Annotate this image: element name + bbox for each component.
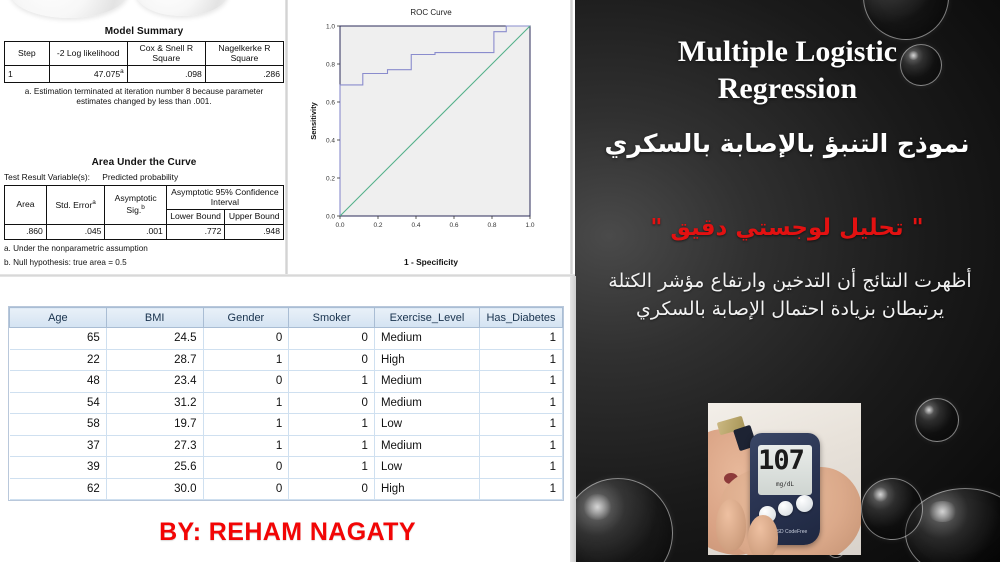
table-row[interactable]: 4823.401Medium1 bbox=[10, 371, 563, 393]
cell-age[interactable]: 48 bbox=[10, 371, 107, 393]
column-header-has_diabetes[interactable]: Has_Diabetes bbox=[480, 308, 563, 328]
col-upper-bound: Upper Bound bbox=[225, 210, 284, 225]
panel-divider bbox=[570, 0, 573, 276]
decorative-bubble-icon bbox=[575, 478, 673, 562]
y-axis-tick: 0.2 bbox=[326, 175, 335, 182]
slide-title-arabic: نموذج التنبؤ بالإصابة بالسكري bbox=[589, 128, 985, 160]
column-header-gender[interactable]: Gender bbox=[203, 308, 289, 328]
y-axis-tick: 0.8 bbox=[326, 61, 335, 68]
decorative-bubble-icon bbox=[915, 398, 959, 442]
model-summary-table: Step -2 Log likelihood Cox & Snell R Squ… bbox=[4, 41, 284, 83]
auc-test-variable: Test Result Variable(s): Predicted proba… bbox=[4, 172, 284, 182]
y-axis-tick: 0.4 bbox=[326, 137, 335, 144]
cell-has_diabetes[interactable]: 1 bbox=[480, 371, 563, 393]
left-content-panel: Model Summary Step -2 Log likelihood Cox… bbox=[0, 0, 575, 562]
cell-lower-bound: .772 bbox=[166, 224, 225, 239]
roc-curve-chart: ROC Curve 0.00.20.40.60.81.0 0.00.20.40.… bbox=[300, 8, 562, 270]
column-header-age[interactable]: Age bbox=[10, 308, 107, 328]
data-grid[interactable]: AgeBMIGenderSmokerExercise_LevelHas_Diab… bbox=[8, 306, 564, 501]
col-cox-snell-r-square: Cox & Snell R Square bbox=[127, 42, 205, 66]
auc-test-variable-label: Test Result Variable(s): bbox=[4, 172, 90, 182]
area-under-curve-output: Area Under the Curve Test Result Variabl… bbox=[4, 157, 284, 268]
cell-smoker[interactable]: 0 bbox=[289, 328, 375, 350]
decorative-bubble-icon bbox=[861, 478, 923, 540]
panel-divider bbox=[0, 274, 575, 277]
cell-gender[interactable]: 1 bbox=[203, 414, 289, 436]
cell-sig: .001 bbox=[105, 224, 166, 239]
cell-exercise_level[interactable]: Low bbox=[374, 414, 479, 436]
col-std-error: Std. Errora bbox=[46, 186, 105, 225]
auc-footnote-a: a. Under the nonparametric assumption bbox=[4, 244, 284, 254]
cell-has_diabetes[interactable]: 1 bbox=[480, 435, 563, 457]
chart-title: ROC Curve bbox=[300, 8, 562, 17]
cell-gender[interactable]: 0 bbox=[203, 328, 289, 350]
title-line-2: Regression bbox=[595, 71, 980, 108]
table-row[interactable]: 3727.311Medium1 bbox=[10, 435, 563, 457]
cell-bmi[interactable]: 30.0 bbox=[106, 478, 203, 500]
cell-age[interactable]: 22 bbox=[10, 349, 107, 371]
col-confidence-interval-group: Asymptotic 95% Confidence Interval bbox=[166, 186, 283, 210]
title-line-1: Multiple Logistic bbox=[595, 34, 980, 71]
cell-smoker[interactable]: 1 bbox=[289, 435, 375, 457]
cell-age[interactable]: 39 bbox=[10, 457, 107, 479]
x-axis-tick: 0.6 bbox=[449, 222, 458, 229]
x-axis-tick: 1.0 bbox=[525, 222, 534, 229]
cell-step: 1 bbox=[5, 66, 50, 82]
cell-age[interactable]: 62 bbox=[10, 478, 107, 500]
cell-bmi[interactable]: 19.7 bbox=[106, 414, 203, 436]
presentation-slide: Model Summary Step -2 Log likelihood Cox… bbox=[0, 0, 1000, 562]
glucose-meter-photo: 107 mg/dL SD CodeFree bbox=[708, 403, 861, 555]
cell-std-error: .045 bbox=[46, 224, 105, 239]
table-row[interactable]: 3925.601Low1 bbox=[10, 457, 563, 479]
panel-divider bbox=[570, 276, 576, 562]
y-axis-tick: 0.6 bbox=[326, 99, 335, 106]
column-header-exercise_level[interactable]: Exercise_Level bbox=[374, 308, 479, 328]
footnote-marker: a bbox=[92, 199, 96, 206]
cell-bmi[interactable]: 28.7 bbox=[106, 349, 203, 371]
cell-minus2loglikelihood: 47.075a bbox=[49, 66, 127, 82]
x-axis-tick: 0.4 bbox=[411, 222, 420, 229]
cell-gender[interactable]: 0 bbox=[203, 457, 289, 479]
cell-has_diabetes[interactable]: 1 bbox=[480, 349, 563, 371]
y-axis-tick: 0.0 bbox=[326, 213, 335, 220]
cell-gender[interactable]: 0 bbox=[203, 478, 289, 500]
cell-exercise_level[interactable]: Medium bbox=[374, 371, 479, 393]
cell-smoker[interactable]: 1 bbox=[289, 457, 375, 479]
table-row: 1 47.075a .098 .286 bbox=[5, 66, 284, 82]
col-step: Step bbox=[5, 42, 50, 66]
model-summary-output: Model Summary Step -2 Log likelihood Cox… bbox=[4, 26, 284, 107]
table-row[interactable]: 2228.710High1 bbox=[10, 349, 563, 371]
cell-smoker[interactable]: 0 bbox=[289, 349, 375, 371]
y-axis-tick: 1.0 bbox=[326, 23, 335, 30]
decorative-bubble-icon bbox=[136, 0, 228, 16]
auc-caption: Area Under the Curve bbox=[4, 157, 284, 168]
table-row[interactable]: 5431.210Medium1 bbox=[10, 392, 563, 414]
data-grid-table: AgeBMIGenderSmokerExercise_LevelHas_Diab… bbox=[9, 307, 563, 500]
slide-body-arabic: أظهرت النتائج أن التدخين وارتفاع مؤشر ال… bbox=[597, 268, 983, 323]
table-row[interactable]: 6524.500Medium1 bbox=[10, 328, 563, 350]
glucose-reading-value: 107 bbox=[758, 447, 804, 474]
glucometer-power-button bbox=[778, 501, 793, 516]
chart-x-axis-label: 1 - Specificity bbox=[300, 257, 562, 267]
column-header-smoker[interactable]: Smoker bbox=[289, 308, 375, 328]
cell-has_diabetes[interactable]: 1 bbox=[480, 328, 563, 350]
slide-subtitle-arabic: " تحليل لوجستي دقيق " bbox=[589, 215, 985, 243]
cell-value: 47.075 bbox=[94, 69, 120, 79]
cell-exercise_level[interactable]: High bbox=[374, 478, 479, 500]
cell-gender[interactable]: 1 bbox=[203, 392, 289, 414]
cell-smoker[interactable]: 0 bbox=[289, 392, 375, 414]
finger-shape bbox=[716, 499, 746, 551]
col-area: Area bbox=[5, 186, 47, 225]
chart-y-axis-label: Sensitivity bbox=[309, 101, 318, 139]
x-axis-tick: 0.8 bbox=[487, 222, 496, 229]
cell-smoker[interactable]: 0 bbox=[289, 478, 375, 500]
slide-title-english: Multiple Logistic Regression bbox=[595, 34, 980, 107]
cell-gender[interactable]: 1 bbox=[203, 349, 289, 371]
cell-gender[interactable]: 0 bbox=[203, 371, 289, 393]
cell-exercise_level[interactable]: Low bbox=[374, 457, 479, 479]
cell-area: .860 bbox=[5, 224, 47, 239]
cell-exercise_level[interactable]: Medium bbox=[374, 435, 479, 457]
model-summary-footnote: a. Estimation terminated at iteration nu… bbox=[4, 87, 284, 108]
footnote-marker: a bbox=[120, 68, 124, 75]
cell-exercise_level[interactable]: Medium bbox=[374, 328, 479, 350]
table-row: .860 .045 .001 .772 .948 bbox=[5, 224, 284, 239]
table-row[interactable]: 6230.000High1 bbox=[10, 478, 563, 500]
cell-bmi[interactable]: 31.2 bbox=[106, 392, 203, 414]
glucose-reading-unit: mg/dL bbox=[762, 481, 808, 488]
data-grid-header-row: AgeBMIGenderSmokerExercise_LevelHas_Diab… bbox=[10, 308, 563, 328]
cell-upper-bound: .948 bbox=[225, 224, 284, 239]
cell-exercise_level[interactable]: Medium bbox=[374, 392, 479, 414]
decorative-bubble-icon bbox=[10, 0, 128, 18]
col-lower-bound: Lower Bound bbox=[166, 210, 225, 225]
cell-has_diabetes[interactable]: 1 bbox=[480, 392, 563, 414]
col-nagelkerke-r-square: Nagelkerke R Square bbox=[205, 42, 283, 66]
cell-bmi[interactable]: 23.4 bbox=[106, 371, 203, 393]
panel-divider bbox=[285, 0, 288, 276]
table-row[interactable]: 5819.711Low1 bbox=[10, 414, 563, 436]
cell-has_diabetes[interactable]: 1 bbox=[480, 457, 563, 479]
col-asymptotic-sig: Asymptotic Sig.b bbox=[105, 186, 166, 225]
cell-gender[interactable]: 1 bbox=[203, 435, 289, 457]
col-minus2loglikelihood: -2 Log likelihood bbox=[49, 42, 127, 66]
cell-age[interactable]: 65 bbox=[10, 328, 107, 350]
auc-table: Area Std. Errora Asymptotic Sig.b Asympt… bbox=[4, 185, 284, 240]
auc-footnote-b: b. Null hypothesis: true area = 0.5 bbox=[4, 258, 284, 268]
cell-age[interactable]: 58 bbox=[10, 414, 107, 436]
auc-test-variable-value: Predicted probability bbox=[102, 172, 178, 182]
table-header-row: Step -2 Log likelihood Cox & Snell R Squ… bbox=[5, 42, 284, 66]
cell-age[interactable]: 37 bbox=[10, 435, 107, 457]
glucometer-right-button bbox=[796, 495, 813, 512]
cell-smoker[interactable]: 1 bbox=[289, 414, 375, 436]
cell-bmi[interactable]: 24.5 bbox=[106, 328, 203, 350]
cell-age[interactable]: 54 bbox=[10, 392, 107, 414]
roc-curve-plot: 0.00.20.40.60.81.0 0.00.20.40.60.81.0 Se… bbox=[300, 18, 562, 256]
x-axis-tick: 0.0 bbox=[335, 222, 344, 229]
cell-nagelkerke: .286 bbox=[205, 66, 283, 82]
column-header-bmi[interactable]: BMI bbox=[106, 308, 203, 328]
x-axis-tick: 0.2 bbox=[373, 222, 382, 229]
right-title-panel: Multiple Logistic Regression نموذج التنب… bbox=[575, 0, 1000, 562]
cell-exercise_level[interactable]: High bbox=[374, 349, 479, 371]
cell-has_diabetes[interactable]: 1 bbox=[480, 478, 563, 500]
table-header-row: Area Std. Errora Asymptotic Sig.b Asympt… bbox=[5, 186, 284, 210]
cell-smoker[interactable]: 1 bbox=[289, 371, 375, 393]
cell-bmi[interactable]: 27.3 bbox=[106, 435, 203, 457]
cell-bmi[interactable]: 25.6 bbox=[106, 457, 203, 479]
cell-has_diabetes[interactable]: 1 bbox=[480, 414, 563, 436]
author-byline: BY: REHAM NAGATY bbox=[0, 518, 575, 547]
finger-shape bbox=[748, 515, 778, 555]
cell-cox-snell: .098 bbox=[127, 66, 205, 82]
model-summary-caption: Model Summary bbox=[4, 26, 284, 37]
footnote-marker: b bbox=[141, 204, 145, 211]
